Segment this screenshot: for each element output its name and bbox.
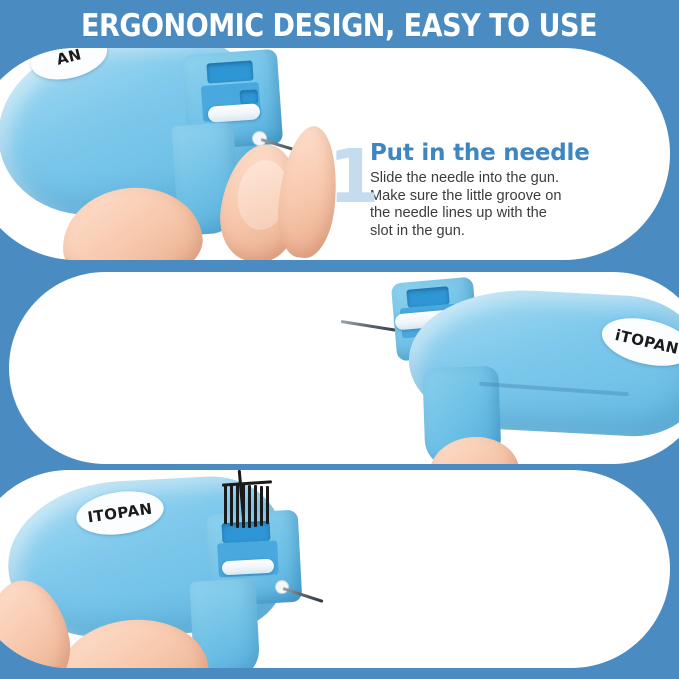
product-infographic: ERGONOMIC DESIGN, EASY TO USE [0,0,679,679]
step-panel-3: ITOPAN 3 Tag the item Grab your tag and … [0,470,670,668]
needle-slot [206,60,253,83]
t-piece-tooth [254,485,257,527]
step-panel-2: iTOPAN 2 Lock it in Place Turn the needl… [9,272,679,464]
step-panel-1-inner: AN 1 Put in the needle Slide the needle … [0,48,670,260]
brand-badge-label: ITOPAN [86,500,153,527]
step-1-title: Put in the needle [370,140,615,166]
page-title: ERGONOMIC DESIGN, EASY TO USE [81,8,597,44]
t-piece-tooth [224,484,227,524]
t-piece-tooth [230,484,233,526]
step-1-body: Slide the needle into the gun. Make sure… [370,170,615,240]
step-panel-1: AN 1 Put in the needle Slide the needle … [0,48,670,260]
needle-lock-knob [222,559,275,576]
t-piece-tooth [266,486,269,524]
step-1-text: 1 Put in the needle Slide the needle int… [370,140,615,240]
t-piece-tooth [248,485,251,528]
needle-slot [222,521,271,543]
t-piece-tooth [260,486,263,526]
needle-collar [275,580,289,594]
photo-step-2: iTOPAN [9,272,679,464]
header-banner: ERGONOMIC DESIGN, EASY TO USE [0,0,679,52]
step-panel-3-inner: ITOPAN 3 Tag the item Grab your tag and … [0,470,670,668]
needle-groove [240,89,259,104]
brand-badge-label: iTOPAN [613,326,679,358]
t-piece-tooth [236,484,239,528]
step-panel-2-inner: iTOPAN 2 Lock it in Place Turn the needl… [9,272,679,464]
brand-badge-label: AN [55,48,84,69]
photo-step-3: ITOPAN [0,470,670,668]
step-1-number: 1 [328,140,380,214]
